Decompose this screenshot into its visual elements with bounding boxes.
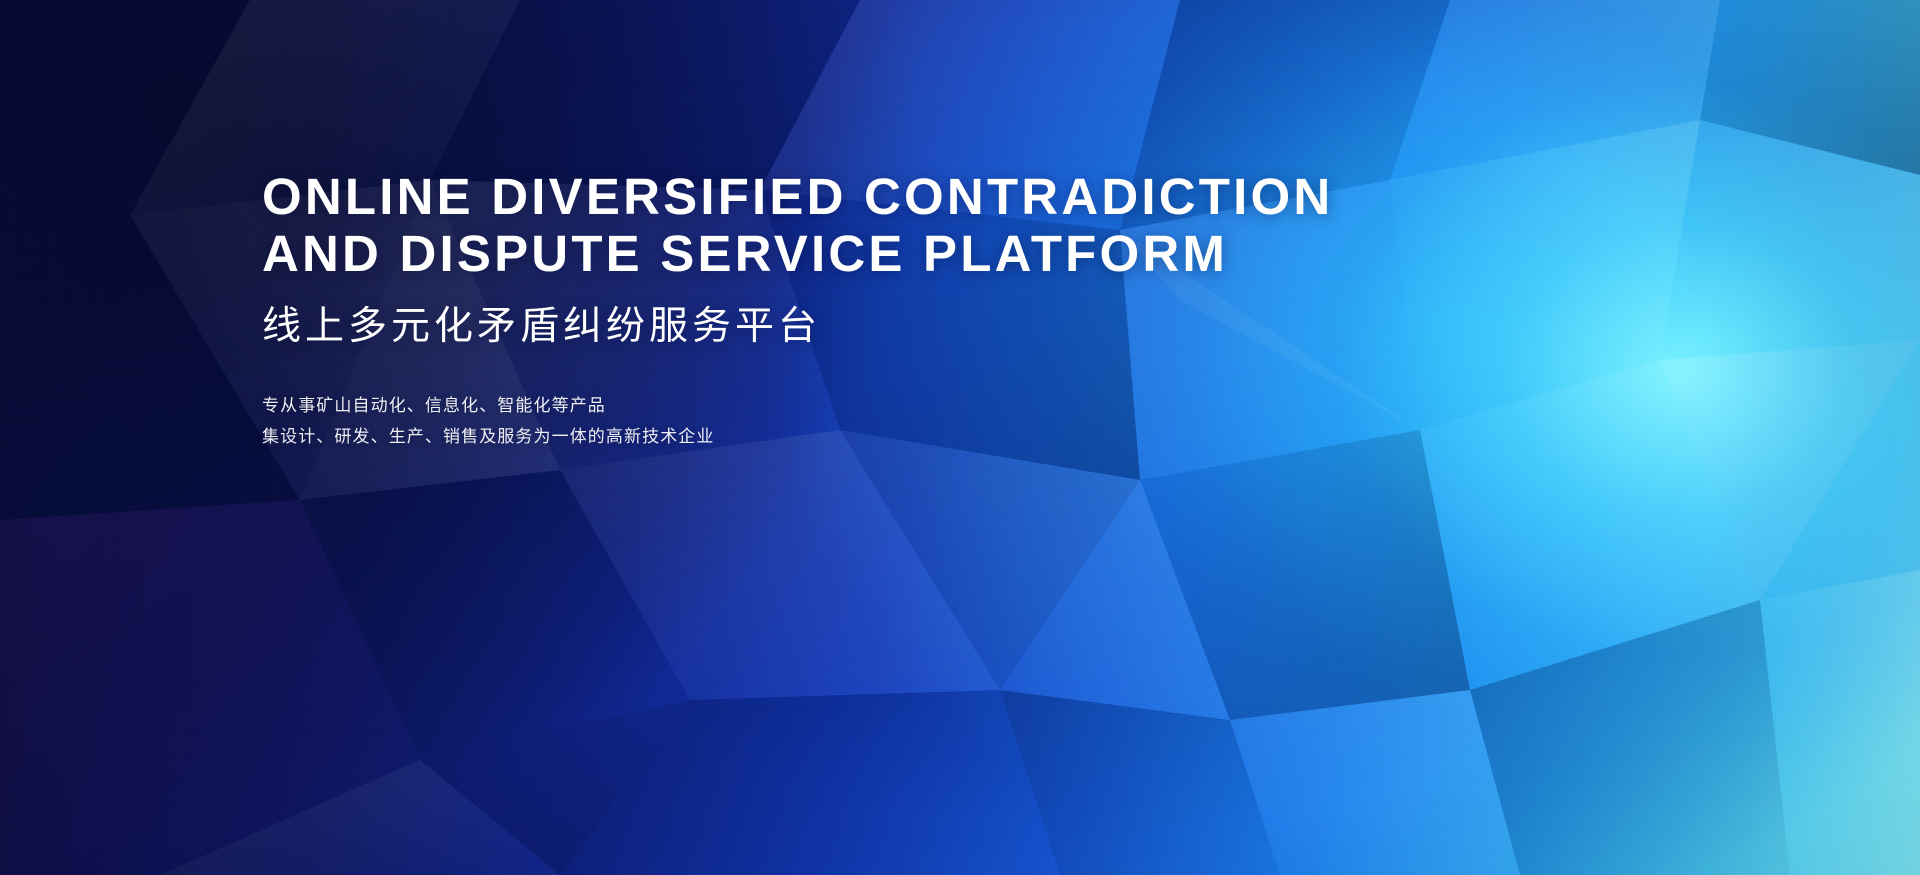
company-description: 专从事矿山自动化、信息化、智能化等产品 集设计、研发、生产、销售及服务为一体的高… — [262, 390, 1412, 452]
hero-banner: ONLINE DIVERSIFIED CONTRADICTION AND DIS… — [0, 0, 1920, 875]
hero-content: ONLINE DIVERSIFIED CONTRADICTION AND DIS… — [262, 168, 1412, 452]
headline-line-2: AND DISPUTE SERVICE PLATFORM — [262, 225, 1412, 282]
page-title: ONLINE DIVERSIFIED CONTRADICTION AND DIS… — [262, 168, 1412, 282]
description-line-2: 集设计、研发、生产、销售及服务为一体的高新技术企业 — [262, 421, 1412, 452]
page-subtitle: 线上多元化矛盾纠纷服务平台 — [262, 303, 1412, 351]
description-line-1: 专从事矿山自动化、信息化、智能化等产品 — [262, 390, 1412, 421]
headline-line-1: ONLINE DIVERSIFIED CONTRADICTION — [262, 168, 1412, 225]
